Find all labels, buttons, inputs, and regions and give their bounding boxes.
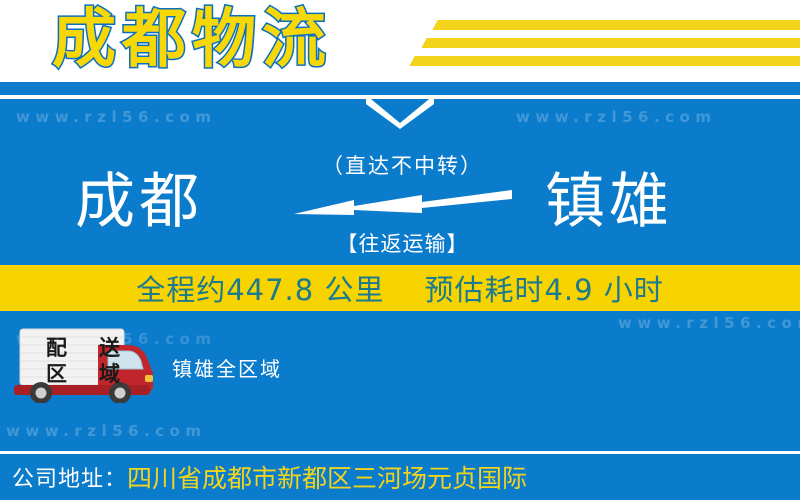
footer-bar: 公司地址： 四川省成都市新都区三河场元贞国际	[0, 454, 800, 500]
truck-badge-text: 配 送 区 域	[30, 335, 136, 387]
brand-title: 成都物流	[52, 3, 332, 77]
origin-city: 成都	[75, 160, 203, 244]
watermark: www.rzl56.com	[6, 422, 206, 440]
decorative-stripe-2	[421, 38, 800, 48]
stat-duration: 预估耗时4.9 小时	[424, 267, 663, 309]
truck-badge-char-2: 送	[99, 337, 120, 359]
truck-badge-char-3: 区	[46, 363, 67, 385]
watermark: www.rzl56.com	[516, 108, 716, 126]
banner-body: www.rzl56.com www.rzl56.com www.rzl56.co…	[0, 82, 800, 500]
decorative-stripe-1	[432, 20, 800, 30]
route-note-roundtrip: 【往返运输】	[270, 228, 535, 258]
chevron-down-icon	[366, 95, 434, 129]
route-row: 成都 （直达不中转） 【往返运输】 镇雄	[0, 160, 800, 260]
truck-badge-char-4: 域	[99, 363, 120, 385]
bidirectional-arrow-icon	[270, 188, 535, 226]
decorative-stripe-3	[409, 56, 800, 66]
route-middle: （直达不中转） 【往返运输】	[270, 150, 535, 258]
stats-bar: 全程约447.8 公里 预估耗时4.9 小时	[0, 265, 800, 311]
watermark: www.rzl56.com	[16, 108, 216, 126]
destination-city: 镇雄	[545, 160, 673, 244]
delivery-row: 配 送 区 域 镇雄全区域	[0, 327, 800, 407]
truck-badge-char-1: 配	[46, 337, 67, 359]
delivery-truck-icon: 配 送 区 域	[8, 327, 156, 403]
logistics-banner: 成都物流 www.rzl56.com www.rzl56.com www.rzl…	[0, 0, 800, 500]
stat-distance: 全程约447.8 公里	[136, 267, 384, 309]
footer-address-value: 四川省成都市新都区三河场元贞国际	[127, 459, 527, 495]
banner-header: 成都物流	[0, 0, 800, 82]
route-note-direct: （直达不中转）	[270, 150, 535, 180]
footer-address-label: 公司地址：	[12, 461, 127, 493]
delivery-area-text: 镇雄全区域	[172, 353, 282, 382]
